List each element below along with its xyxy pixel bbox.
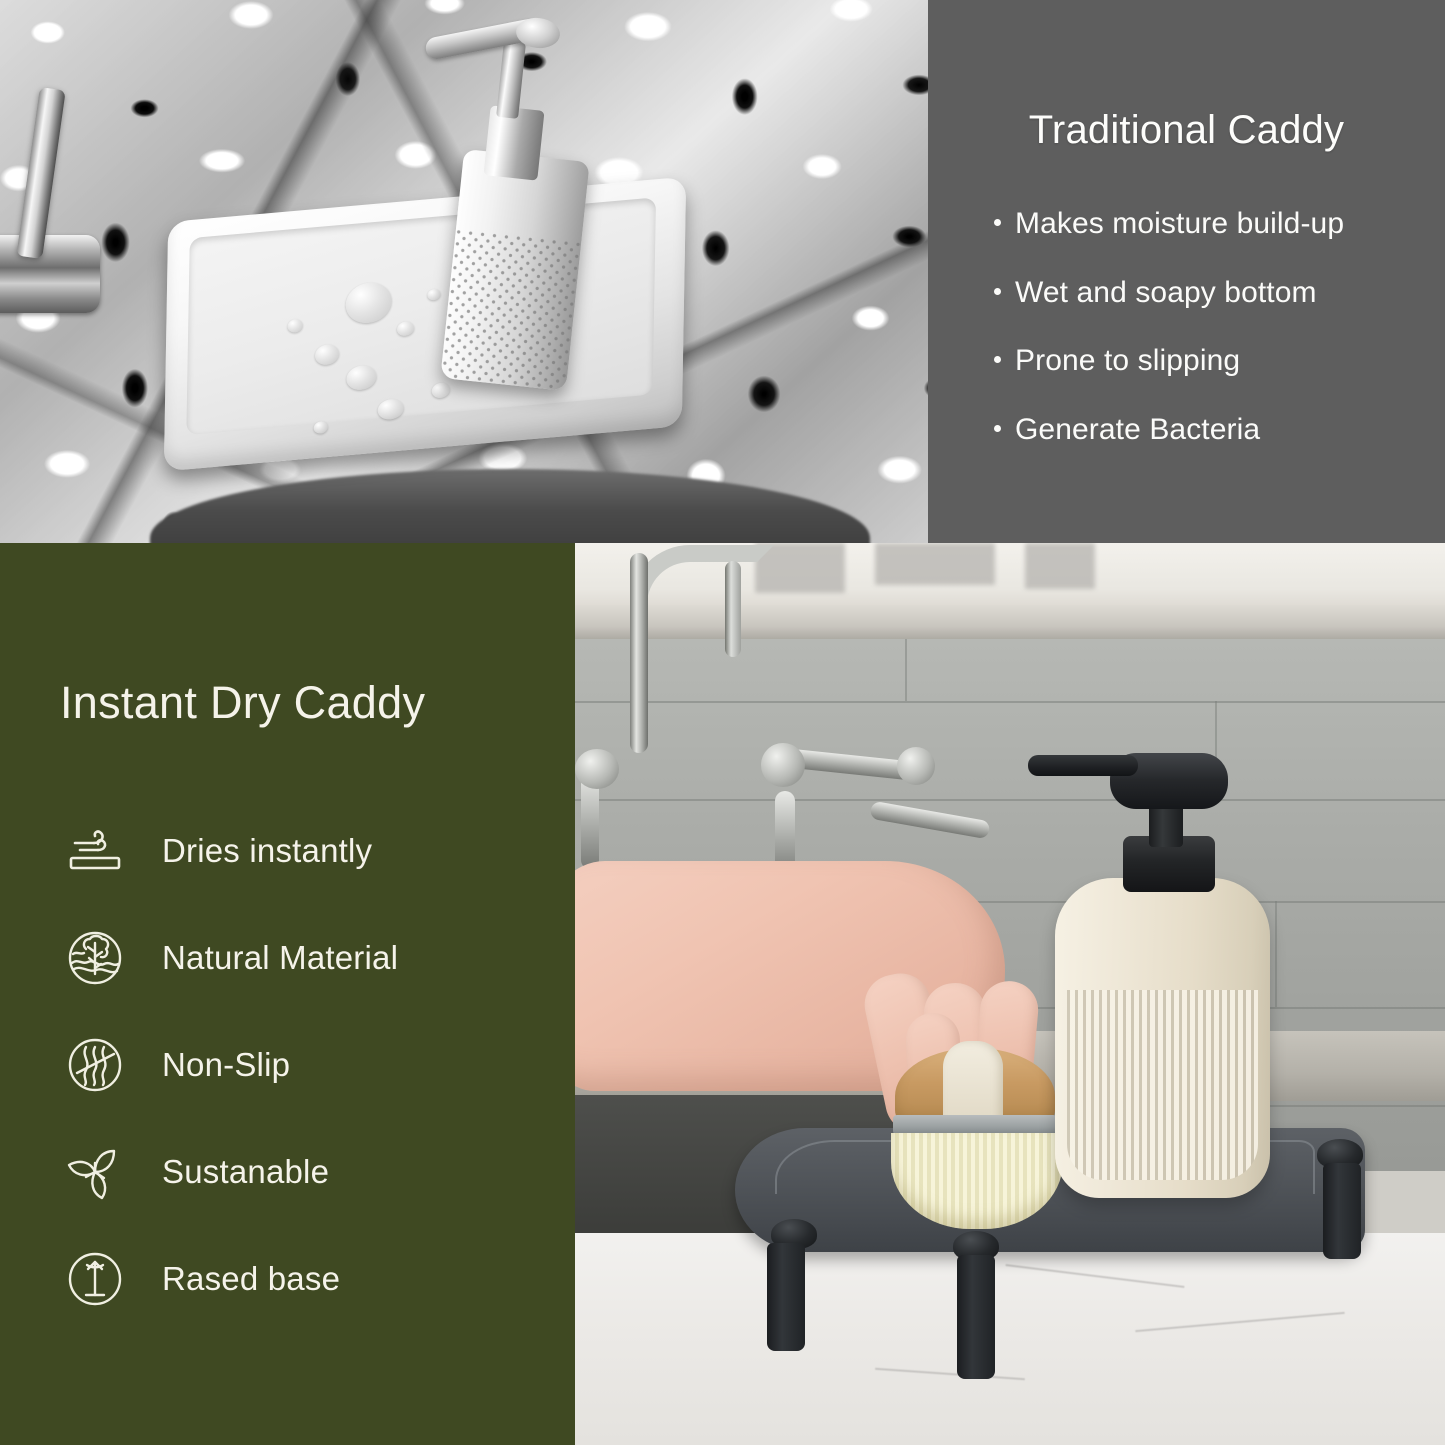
- dispenser-ribbed-texture: [1067, 990, 1258, 1180]
- up-arrow-baseline-circle-icon: [62, 1246, 128, 1312]
- tray-leg: [957, 1255, 995, 1379]
- traditional-drawbacks-list: Makes moisture build-up Wet and soapy bo…: [994, 208, 1421, 482]
- tile-grout-line: [575, 799, 1445, 801]
- instant-dry-panel-title: Instant Dry Caddy: [60, 677, 425, 729]
- feature-label: Rased base: [162, 1260, 340, 1298]
- list-item: Generate Bacteria: [994, 414, 1421, 446]
- instant-dry-soap-dispenser-body: [1055, 878, 1270, 1198]
- bullet-label: Prone to slipping: [1015, 345, 1240, 377]
- list-item: Non-Slip: [62, 1026, 398, 1104]
- instant-dry-feature-list: Dries instantly Natural Material: [62, 812, 398, 1347]
- faucet-handle-knob: [897, 747, 935, 785]
- tree-landscape-circle-icon: [62, 925, 128, 991]
- list-item: Prone to slipping: [994, 345, 1421, 377]
- bullet-dot-icon: [994, 288, 1001, 295]
- wavy-lines-slash-circle-icon: [62, 1032, 128, 1098]
- tray-leg: [767, 1243, 805, 1351]
- window-building: [1025, 543, 1095, 589]
- wind-over-slab-icon: [62, 818, 128, 884]
- water-droplet: [427, 289, 440, 301]
- list-item: Natural Material: [62, 919, 398, 997]
- faucet-column: [630, 553, 648, 753]
- countertop-vein: [1135, 1312, 1344, 1332]
- water-droplet: [397, 321, 414, 337]
- front-countertop: [575, 1233, 1445, 1445]
- feature-label: Sustanable: [162, 1153, 329, 1191]
- faucet-spout: [725, 561, 741, 657]
- bullet-label: Generate Bacteria: [1015, 414, 1260, 446]
- traditional-soap-dispenser-body: [440, 149, 589, 391]
- tile-grout-line: [905, 639, 907, 701]
- list-item: Wet and soapy bottom: [994, 277, 1421, 309]
- tile-grout-line: [575, 701, 1445, 703]
- faucet-base: [0, 235, 100, 313]
- tile-grout-line: [1275, 901, 1277, 1007]
- countertop-vein: [1006, 1264, 1185, 1288]
- feature-label: Non-Slip: [162, 1046, 290, 1084]
- bullet-label: Makes moisture build-up: [1015, 208, 1344, 240]
- bullet-label: Wet and soapy bottom: [1015, 277, 1317, 309]
- list-item: Rased base: [62, 1240, 398, 1318]
- tray-leg: [1323, 1163, 1361, 1259]
- window-building: [875, 543, 995, 585]
- dispenser-dotted-texture: [440, 229, 581, 391]
- dish-brush-metal-band: [893, 1115, 1057, 1135]
- product-comparison-infographic: Traditional Caddy Makes moisture build-u…: [0, 0, 1445, 1445]
- water-droplet: [346, 364, 376, 391]
- three-leaves-recycle-circle-icon: [62, 1139, 128, 1205]
- countertop-vein: [875, 1368, 1025, 1380]
- white-ceramic-tray: [164, 177, 686, 472]
- water-droplet: [314, 421, 328, 434]
- water-droplet: [288, 319, 303, 333]
- water-droplet: [345, 281, 392, 325]
- list-item: Sustanable: [62, 1133, 398, 1211]
- water-droplet: [378, 398, 404, 420]
- list-item: Dries instantly: [62, 812, 398, 890]
- dispenser-pump-nozzle: [1028, 755, 1138, 776]
- bullet-dot-icon: [994, 425, 1001, 432]
- list-item: Makes moisture build-up: [994, 208, 1421, 240]
- water-droplet: [432, 382, 450, 399]
- bullet-dot-icon: [994, 356, 1001, 363]
- bullet-dot-icon: [994, 219, 1001, 226]
- faucet-handle-knob: [575, 749, 619, 789]
- feature-label: Natural Material: [162, 939, 398, 977]
- water-droplet: [315, 344, 339, 366]
- instant-dry-caddy-photo: [575, 543, 1445, 1445]
- traditional-panel-title: Traditional Caddy: [928, 108, 1445, 153]
- traditional-caddy-panel: Traditional Caddy Makes moisture build-u…: [928, 0, 1445, 543]
- feature-label: Dries instantly: [162, 832, 372, 870]
- faucet-gooseneck: [630, 545, 774, 649]
- traditional-caddy-photo: [0, 0, 928, 543]
- faucet-handle-knob: [761, 743, 805, 787]
